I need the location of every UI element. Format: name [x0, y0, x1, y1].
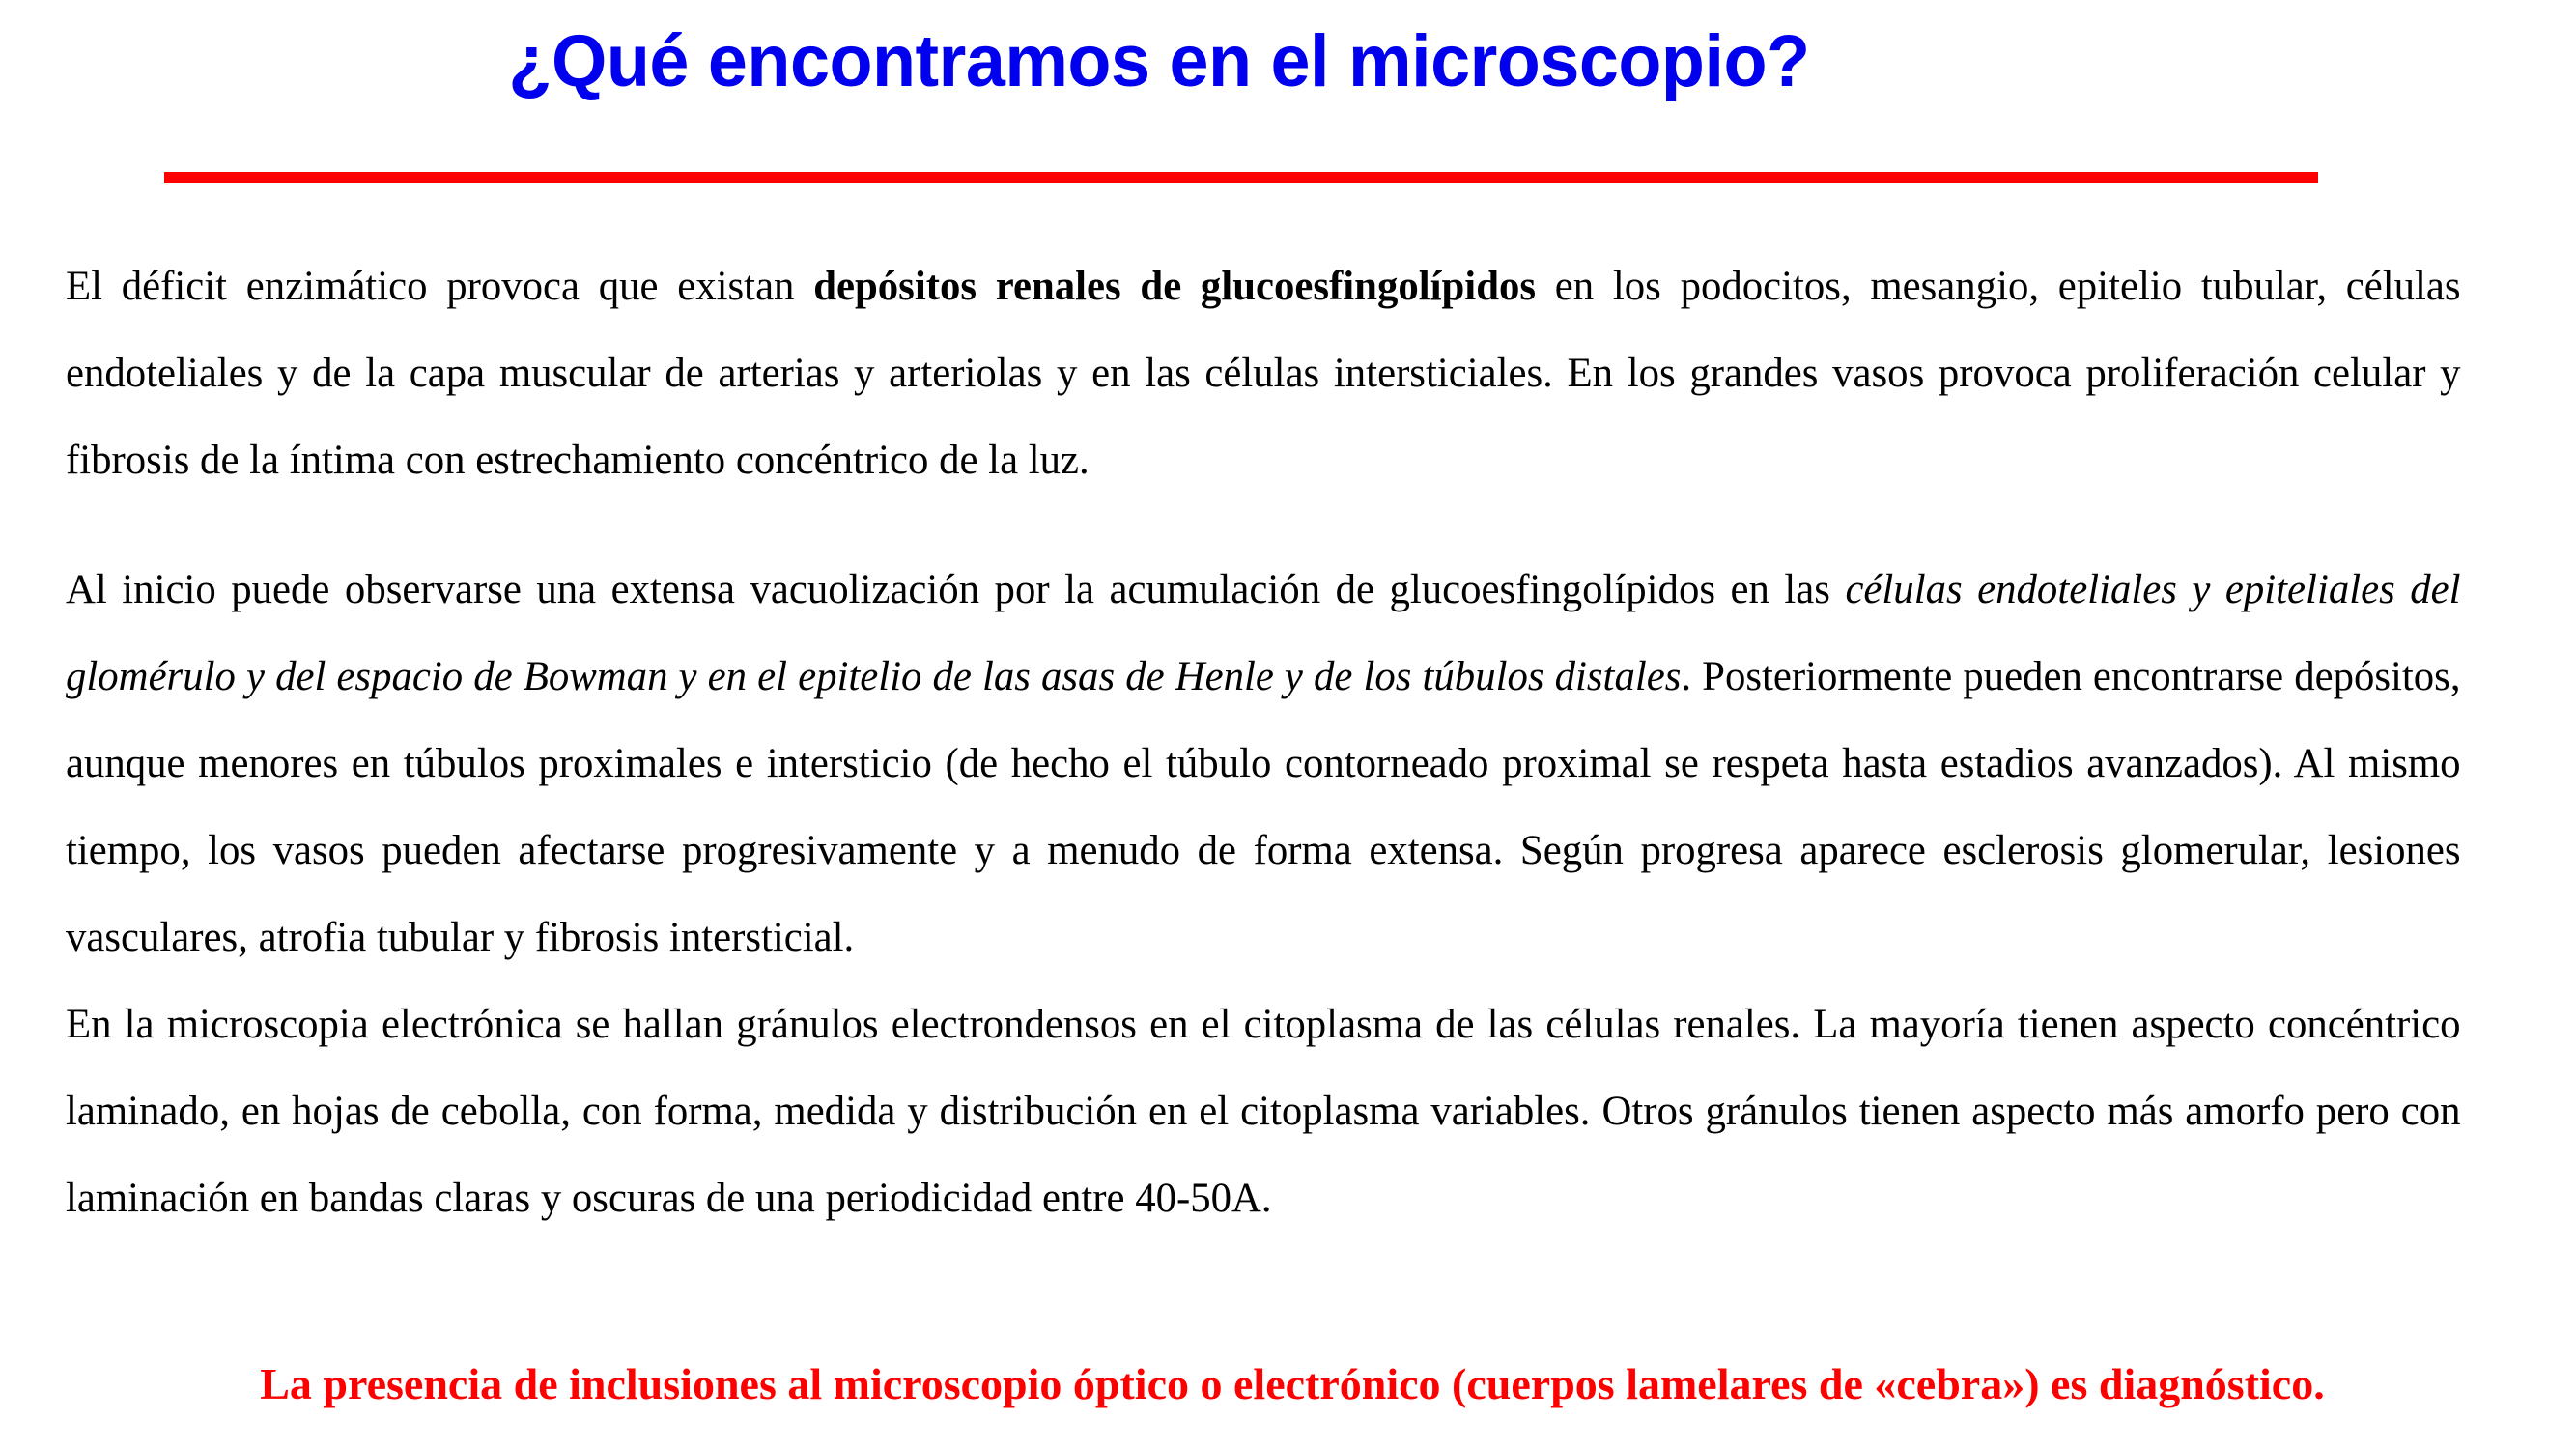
paragraph-1-text-start: El déficit enzimático provoca que exista… — [66, 264, 813, 309]
title-block: ¿Qué encontramos en el microscopio? — [0, 21, 2318, 102]
page-title: ¿Qué encontramos en el microscopio? — [35, 21, 2283, 102]
paragraph-3-text: En la microscopia electrónica se hallan … — [66, 1002, 2461, 1221]
paragraph-1: El déficit enzimático provoca que exista… — [66, 243, 2461, 504]
paragraph-1-bold-phrase: depósitos renales de glucoesfingolípidos — [813, 264, 1536, 309]
slide-canvas: ¿Qué encontramos en el microscopio? El d… — [0, 0, 2576, 1449]
paragraph-2-text-end: . Posteriormente pueden encontrarse depó… — [66, 654, 2461, 960]
paragraph-3: En la microscopia electrónica se hallan … — [66, 981, 2461, 1242]
body-content: El déficit enzimático provoca que exista… — [66, 243, 2473, 1242]
title-underline-rule — [164, 172, 2318, 183]
conclusion-statement: La presencia de inclusiones al microscop… — [56, 1356, 2529, 1412]
paragraph-2-text-start: Al inicio puede observarse una extensa v… — [66, 567, 1845, 612]
paragraph-2: Al inicio puede observarse una extensa v… — [66, 547, 2461, 981]
